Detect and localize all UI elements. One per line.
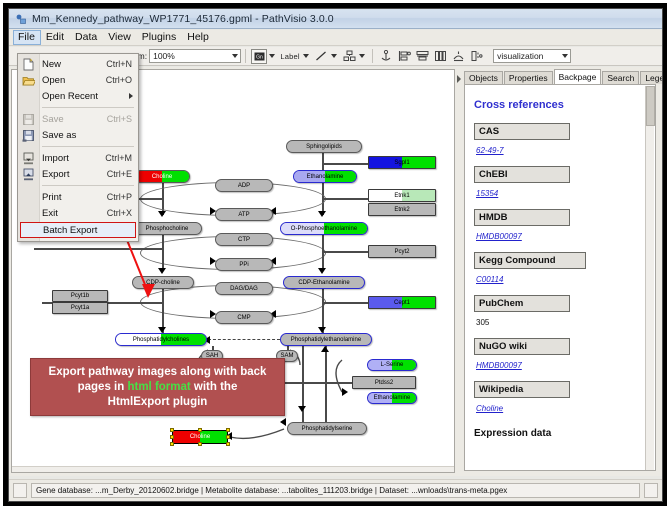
- resize-handle-ne[interactable]: [226, 428, 230, 432]
- backpage-scrollbar[interactable]: [645, 86, 654, 471]
- edge-etnk-link: [322, 198, 370, 200]
- resize-handle-nw[interactable]: [170, 428, 174, 432]
- arrow-ethanolamine-down: [318, 211, 326, 217]
- edge-genes-left-2: [34, 248, 162, 250]
- resize-handle-se[interactable]: [226, 442, 230, 446]
- annotation-callout: Export pathway images along with back pa…: [30, 358, 285, 416]
- file-menu-separator-2: [42, 146, 134, 147]
- zoom-value: 100%: [153, 51, 175, 61]
- gene-etnk1[interactable]: Etnk1: [368, 189, 436, 202]
- file-menu-exit[interactable]: Exit Ctrl+X: [18, 205, 138, 221]
- file-menu-print[interactable]: Print Ctrl+P: [18, 189, 138, 205]
- node-sphingolipids[interactable]: Sphingolipids: [286, 140, 362, 153]
- gene-etnk2[interactable]: Etnk2: [368, 203, 436, 216]
- file-menu-export-label: Export: [42, 169, 107, 180]
- xref-value-wikipedia[interactable]: Choline: [476, 404, 503, 413]
- xref-value-hmdb[interactable]: HMDB00097: [476, 232, 522, 241]
- gene-sgpl1[interactable]: Sgpl1: [368, 156, 436, 169]
- node-ethanolamine-2[interactable]: Ethanolamine: [367, 392, 417, 404]
- visualization-combo[interactable]: visualization: [493, 49, 571, 63]
- edge-pc-pe-dashed: [208, 339, 280, 340]
- resize-handle-n[interactable]: [198, 428, 202, 432]
- align-stack-icon[interactable]: [432, 49, 448, 64]
- node-phosphocholine[interactable]: Phosphocholine: [132, 222, 202, 235]
- callout-line-1: Export pathway images along with back: [49, 365, 267, 380]
- chevron-down-icon-2: [562, 54, 568, 58]
- file-menu-open-label: Open: [42, 75, 106, 86]
- menu-data[interactable]: Data: [70, 30, 103, 45]
- file-menu-open[interactable]: Open Ctrl+O: [18, 72, 138, 88]
- toolbar-separator: [245, 49, 246, 63]
- save-as-icon: [22, 129, 35, 142]
- save-disk-icon: [22, 113, 35, 126]
- xref-label-nugo: NuGO wiki: [474, 338, 570, 355]
- expression-data-heading: Expression data: [474, 428, 646, 439]
- gene-ptdss2[interactable]: Ptdss2: [352, 376, 416, 389]
- callout-line-3: HtmlExport plugin: [49, 395, 267, 410]
- arrow-cdpcholine-down: [158, 268, 166, 274]
- chevron-down-icon: [232, 54, 238, 58]
- xref-label-pubchem: PubChem: [474, 295, 570, 312]
- edge-ophospho-cdpethanolamine: [322, 229, 324, 271]
- menu-view[interactable]: View: [103, 30, 137, 45]
- pathvisio-window: Mm_Kennedy_pathway_WP1771_45176.gpml - P…: [8, 8, 663, 502]
- export-icon: [22, 168, 35, 181]
- edge-pcyt2-link: [322, 251, 370, 253]
- gene-pcyt1a[interactable]: Pcyt1a: [52, 302, 108, 314]
- node-ethanolamine[interactable]: Ethanolamine: [293, 170, 357, 183]
- visualization-value: visualization: [497, 51, 543, 61]
- menu-help[interactable]: Help: [182, 30, 215, 45]
- pathvisio-icon: [15, 13, 27, 25]
- xref-label-wikipedia: Wikipedia: [474, 381, 570, 398]
- xref-label-cas: CAS: [474, 123, 570, 140]
- callout-line-2b: with the: [191, 381, 238, 393]
- file-menu-import-accel: Ctrl+M: [105, 153, 138, 163]
- edge-sgpl1-link: [322, 163, 370, 165]
- file-menu-open-recent[interactable]: Open Recent: [18, 88, 138, 104]
- file-menu-separator-3: [42, 185, 134, 186]
- arrow-ps-in: [280, 418, 286, 426]
- line-dropdown-icon[interactable]: [331, 54, 337, 58]
- edge-cdpetn-pe: [322, 283, 324, 333]
- node-ctp[interactable]: CTP: [215, 233, 273, 246]
- node-cmp[interactable]: CMP: [215, 311, 273, 324]
- node-o-phosphoethanolamine[interactable]: O-Phosphoethanolamine: [280, 222, 368, 235]
- file-menu-print-label: Print: [42, 192, 107, 203]
- scrollbar-thumb[interactable]: [646, 86, 655, 126]
- label-dropdown-icon[interactable]: [303, 54, 309, 58]
- file-menu-dropdown[interactable]: New Ctrl+N Open Ctrl+O Open Recent: [17, 53, 139, 242]
- node-atp[interactable]: ATP: [215, 208, 273, 221]
- file-menu-open-accel: Ctrl+O: [106, 75, 138, 85]
- edge-phosphocholine-cdpcholine: [162, 229, 164, 271]
- file-menu-separator-1: [42, 107, 134, 108]
- toolbar-separator-2: [372, 49, 373, 63]
- file-menu-import-label: Import: [42, 153, 105, 164]
- new-file-icon: [22, 58, 35, 71]
- file-menu-new-accel: Ctrl+N: [106, 59, 138, 69]
- backpage-inner: Cross references CAS 62-49-7 ChEBI 15354…: [465, 85, 655, 439]
- tab-legend[interactable]: Legend: [640, 71, 663, 84]
- file-menu-new-label: New: [42, 59, 106, 70]
- arrow-ps-down: [298, 406, 306, 412]
- resize-handle-s[interactable]: [198, 442, 202, 446]
- status-resize-grip[interactable]: [644, 483, 658, 498]
- callout-line-2a: pages in: [78, 381, 128, 393]
- xref-value-pubchem: 305: [476, 318, 489, 327]
- line-icon[interactable]: [313, 49, 329, 64]
- file-menu-save: Save Ctrl+S: [18, 111, 138, 127]
- status-indicator: [13, 483, 27, 498]
- node-l-serine[interactable]: L-Serine: [367, 359, 417, 371]
- align-left-icon[interactable]: [396, 49, 412, 64]
- gene-cept1[interactable]: Cept1: [368, 296, 436, 309]
- gene-pcyt2[interactable]: Pcyt2: [368, 245, 436, 258]
- backpage-content[interactable]: Cross references CAS 62-49-7 ChEBI 15354…: [464, 84, 656, 471]
- datanode-dropdown-icon[interactable]: [269, 54, 275, 58]
- file-menu-save-as-label: Save as: [42, 130, 132, 141]
- file-menu-open-recent-label: Open Recent: [42, 91, 129, 102]
- tab-search[interactable]: Search: [602, 71, 639, 84]
- ungroup-icon[interactable]: [468, 49, 484, 64]
- node-cdp-ethanolamine[interactable]: CDP-Ethanolamine: [283, 276, 365, 289]
- status-bar: Gene database: ...m_Derby_20120602.bridg…: [9, 479, 662, 501]
- screenshot-root: Mm_Kennedy_pathway_WP1771_45176.gpml - P…: [0, 0, 670, 509]
- tab-objects[interactable]: Objects: [464, 71, 503, 84]
- zoom-combo[interactable]: 100%: [149, 49, 241, 63]
- node-phosphatidylcholines[interactable]: Phosphatidylcholines: [115, 333, 207, 346]
- node-adp[interactable]: ADP: [215, 179, 273, 192]
- node-dag[interactable]: DAG/DAG: [215, 282, 273, 295]
- file-menu-new[interactable]: New Ctrl+N: [18, 56, 138, 72]
- submenu-arrow-icon: [129, 93, 133, 99]
- resize-handle-sw[interactable]: [170, 442, 174, 446]
- window-title: Mm_Kennedy_pathway_WP1771_45176.gpml - P…: [32, 13, 334, 25]
- node-phosphatidylserine[interactable]: Phosphatidylserine: [287, 422, 367, 435]
- selected-node-choline[interactable]: Choline: [172, 430, 228, 444]
- file-menu-import[interactable]: Import Ctrl+M: [18, 150, 138, 166]
- file-menu-save-label: Save: [42, 114, 107, 125]
- title-bar: Mm_Kennedy_pathway_WP1771_45176.gpml - P…: [9, 9, 662, 29]
- xref-value-nugo[interactable]: HMDB00097: [476, 361, 522, 370]
- label-button[interactable]: Label: [279, 49, 301, 64]
- file-menu-exit-accel: Ctrl+X: [107, 208, 138, 218]
- svg-text:Gn: Gn: [256, 54, 263, 60]
- callout-line-2: pages in html format with the: [49, 380, 267, 395]
- side-panel: Objects Properties Backpage Search Legen…: [461, 69, 662, 473]
- node-cdp-choline[interactable]: CDP-choline: [132, 276, 194, 289]
- xref-value-chebi[interactable]: 15354: [476, 189, 498, 198]
- open-folder-icon: [22, 74, 35, 87]
- cross-references-heading: Cross references: [474, 99, 646, 111]
- file-menu-exit-label: Exit: [42, 208, 107, 219]
- xref-label-chebi: ChEBI: [474, 166, 570, 183]
- tab-backpage[interactable]: Backpage: [554, 69, 602, 84]
- file-menu-save-as[interactable]: Save as: [18, 127, 138, 143]
- file-menu-print-accel: Ctrl+P: [107, 192, 138, 202]
- interaction-dropdown-icon[interactable]: [359, 54, 365, 58]
- node-ppi[interactable]: PPi: [215, 258, 273, 271]
- xref-label-hmdb: HMDB: [474, 209, 570, 226]
- arrow-to-ethanolamine-2: [342, 388, 348, 396]
- menu-bar[interactable]: File Edit Data View Plugins Help: [9, 30, 662, 46]
- group-icon[interactable]: [450, 49, 466, 64]
- arrow-choline-down: [158, 211, 166, 217]
- file-menu-save-accel: Ctrl+S: [107, 114, 138, 124]
- arrow-pe-up: [321, 346, 329, 352]
- anchor-icon[interactable]: [378, 49, 394, 64]
- status-text: Gene database: ...m_Derby_20120602.bridg…: [31, 483, 640, 498]
- datanode-icon[interactable]: Gn: [251, 49, 267, 64]
- node-choline[interactable]: Choline: [134, 170, 190, 183]
- xref-value-kegg[interactable]: C00114: [476, 275, 503, 284]
- menu-plugins[interactable]: Plugins: [137, 30, 182, 45]
- gene-pcyt1b[interactable]: Pcyt1b: [52, 290, 108, 302]
- align-center-icon[interactable]: [414, 49, 430, 64]
- tab-properties[interactable]: Properties: [504, 71, 553, 84]
- file-menu-export[interactable]: Export Ctrl+E: [18, 166, 138, 182]
- arrow-cdpethanolamine-down: [318, 268, 326, 274]
- menu-file[interactable]: File: [13, 30, 41, 45]
- file-menu-batch-export[interactable]: Batch Export: [20, 222, 136, 238]
- import-icon: [22, 152, 35, 165]
- canvas-horizontal-scrollbar[interactable]: [12, 466, 455, 473]
- edge-cept1-link: [322, 302, 370, 304]
- edge-cdpcholine-pc: [162, 283, 164, 333]
- callout-highlight: html format: [127, 381, 190, 393]
- node-phosphatidylethanolamine[interactable]: Phosphatidylethanolamine: [280, 333, 372, 346]
- edge-ps-pe-back: [325, 346, 327, 426]
- xref-label-kegg: Kegg Compound: [474, 252, 586, 269]
- menu-edit[interactable]: Edit: [41, 30, 70, 45]
- side-panel-tabs[interactable]: Objects Properties Backpage Search Legen…: [461, 69, 662, 84]
- xref-value-cas[interactable]: 62-49-7: [476, 146, 504, 155]
- interaction-icon[interactable]: [341, 49, 357, 64]
- file-menu-export-accel: Ctrl+E: [107, 169, 138, 179]
- edge-pe-ps: [302, 346, 304, 426]
- file-menu-batch-export-label: Batch Export: [43, 225, 135, 236]
